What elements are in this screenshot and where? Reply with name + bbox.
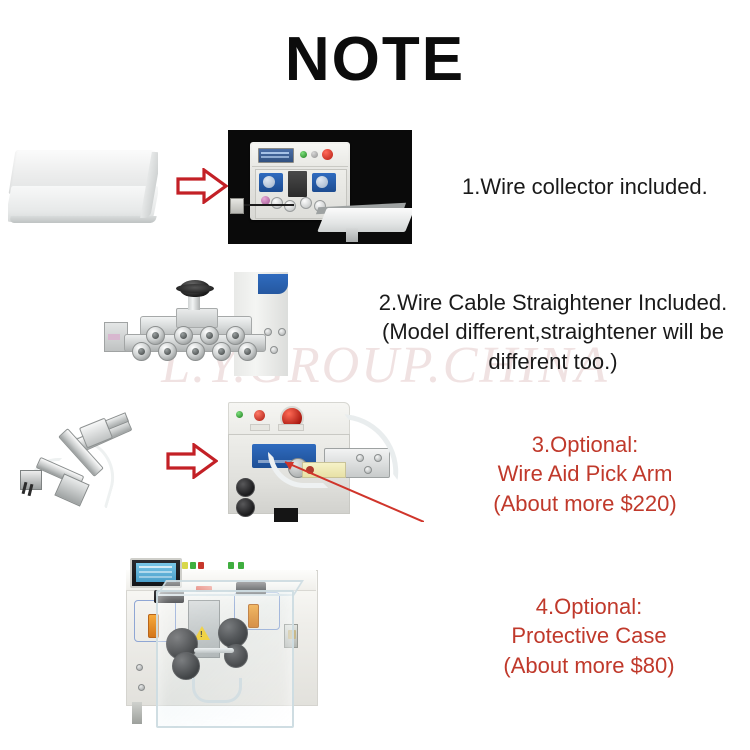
machine-lcd-display (258, 148, 294, 163)
machine-keypad-button (198, 562, 204, 569)
product-photo-protective-case-machine (108, 552, 336, 738)
straightener-adjust-block (176, 308, 218, 328)
straightener-roller (212, 342, 231, 361)
red-pointer-line (228, 400, 424, 522)
straightener-roller (238, 342, 257, 361)
wire-collector-trough-illustration (8, 148, 158, 230)
protective-case-handle (192, 678, 242, 703)
machine-mount-hole (270, 346, 278, 354)
straightener-roller (132, 342, 151, 361)
machine-mount-hole (278, 328, 286, 336)
item-4-caption: 4.Optional: Protective Case (About more … (430, 592, 748, 680)
machine-green-button (300, 151, 307, 158)
machine-blue-module-left (259, 173, 283, 192)
machine-keypad-button (182, 562, 188, 569)
collector-tray (317, 208, 412, 232)
machine-feed-roller (300, 197, 312, 209)
machine-photo-wire-collector-installed (228, 130, 412, 244)
product-photo-wire-aid-pick-arm (10, 408, 162, 508)
machine-gray-button (311, 151, 318, 158)
machine-wire-clamp (230, 198, 244, 214)
item-1-caption: 1.Wire collector included. (462, 172, 742, 201)
straightener-roller (158, 342, 177, 361)
straightener-roller (186, 342, 205, 361)
machine-keypad-button (190, 562, 196, 569)
item-2-caption: 2.Wire Cable Straightener Included. (Mod… (358, 288, 748, 376)
machine-screw (136, 664, 143, 671)
machine-keypad-button (228, 562, 234, 569)
machine-foot (346, 228, 358, 242)
machine-photo-pick-arm-installed (228, 400, 424, 522)
note-page: L.Y.GROUP.CHINA NOTE 1.W (0, 0, 750, 750)
item-3-caption: 3.Optional: Wire Aid Pick Arm (About mor… (425, 430, 745, 518)
right-arrow-icon (176, 168, 228, 204)
machine-foot (132, 702, 142, 724)
machine-cutter-head (288, 171, 307, 197)
machine-keypad-button (238, 562, 244, 569)
page-title: NOTE (0, 24, 750, 95)
machine-emergency-stop-button (322, 149, 333, 160)
machine-feed-roller (284, 200, 296, 212)
product-photo-wire-collector (8, 148, 158, 230)
protective-case-front-panel (156, 590, 294, 728)
right-arrow-icon (166, 443, 218, 479)
straightener-mount-pad (108, 334, 120, 340)
straightener-adjust-knob (180, 280, 210, 297)
product-photo-cable-straightener (88, 272, 288, 376)
machine-screw (138, 684, 145, 691)
machine-feed-roller (271, 197, 283, 209)
machine-blue-accent (258, 274, 288, 294)
machine-blue-module-right (312, 173, 336, 192)
trough-lip (9, 216, 156, 223)
